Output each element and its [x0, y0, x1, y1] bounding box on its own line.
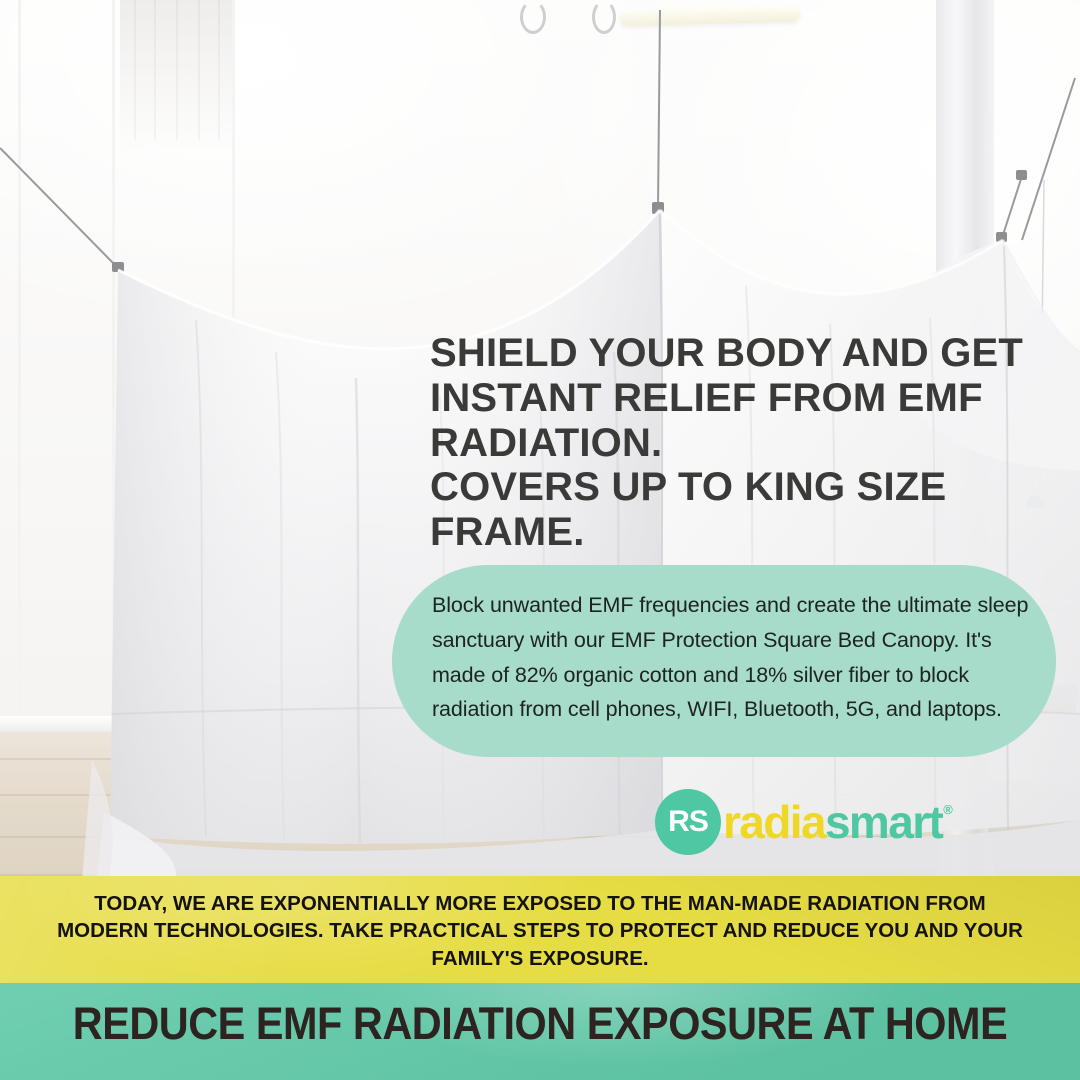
- headline-line-5: FRAME.: [430, 510, 1030, 555]
- headline: SHIELD YOUR BODY AND GET INSTANT RELIEF …: [430, 331, 1030, 555]
- description-text: Block unwanted EMF frequencies and creat…: [432, 588, 1040, 727]
- yellow-banner: TODAY, WE ARE EXPONENTIALLY MORE EXPOSED…: [0, 876, 1080, 983]
- logo-word-radia: radia: [723, 799, 825, 845]
- headline-line-4: COVERS UP TO KING SIZE: [430, 465, 1030, 510]
- teal-footer: REDUCE EMF RADIATION EXPOSURE AT HOME: [0, 983, 1080, 1080]
- logo-wordmark: radia smart ®: [723, 799, 951, 845]
- logo-circle-icon: RS: [655, 789, 721, 855]
- logo-word-smart: smart: [825, 799, 942, 845]
- headline-line-3: RADIATION.: [430, 421, 1030, 466]
- yellow-banner-text: TODAY, WE ARE EXPONENTIALLY MORE EXPOSED…: [50, 890, 1030, 972]
- poster-canvas: SHIELD YOUR BODY AND GET INSTANT RELIEF …: [0, 0, 1080, 1080]
- brand-logo: RS radia smart ®: [655, 788, 951, 856]
- logo-monogram: RS: [668, 807, 708, 837]
- registered-trademark-icon: ®: [943, 803, 951, 816]
- headline-line-1: SHIELD YOUR BODY AND GET: [430, 331, 1030, 376]
- headline-line-2: INSTANT RELIEF FROM EMF: [430, 376, 1030, 421]
- footer-headline: REDUCE EMF RADIATION EXPOSURE AT HOME: [43, 1001, 1037, 1046]
